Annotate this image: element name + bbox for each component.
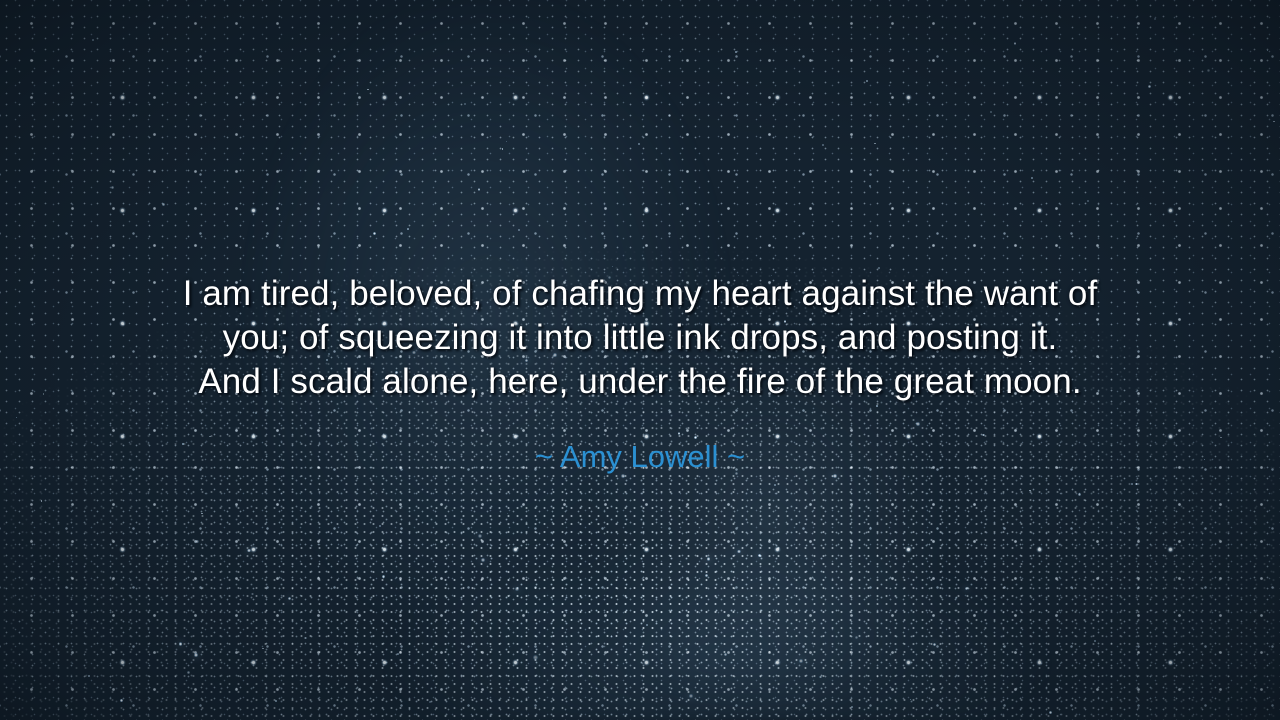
star-icon — [851, 706, 853, 708]
star-icon — [179, 642, 182, 645]
quote-line-2: you; of squeezing it into little ink dro… — [0, 316, 1280, 360]
star-icon — [878, 267, 880, 269]
star-icon — [16, 417, 17, 418]
star-icon — [916, 422, 920, 426]
star-icon — [612, 266, 613, 267]
star-icon — [162, 203, 164, 205]
star-icon — [707, 557, 710, 560]
star-icon — [379, 525, 380, 526]
quote-wallpaper: I am tired, beloved, of chafing my heart… — [0, 0, 1280, 720]
star-icon — [128, 621, 130, 623]
star-icon — [507, 513, 508, 514]
star-icon — [373, 232, 376, 235]
star-icon — [502, 148, 504, 150]
star-icon — [304, 637, 306, 639]
quote-line-3: And I scald alone, here, under the fire … — [0, 360, 1280, 404]
star-icon — [910, 699, 912, 701]
quote-attribution: ~ Amy Lowell ~ — [0, 438, 1280, 476]
star-icon — [195, 540, 198, 543]
star-icon — [611, 635, 613, 637]
star-icon — [855, 636, 858, 639]
star-icon — [481, 558, 485, 562]
star-icon — [518, 229, 520, 231]
star-icon — [866, 80, 869, 83]
star-icon — [515, 587, 519, 591]
star-icon — [506, 141, 508, 143]
star-icon — [478, 534, 482, 538]
star-icon — [367, 89, 369, 91]
star-icon — [41, 500, 43, 502]
star-icon — [382, 575, 385, 578]
star-icon — [187, 671, 190, 674]
star-icon — [638, 143, 640, 145]
star-icon — [120, 699, 123, 702]
star-icon — [247, 549, 250, 552]
star-icon — [505, 480, 506, 481]
star-icon — [874, 143, 875, 144]
star-icon — [758, 554, 761, 557]
star-icon — [1078, 493, 1081, 496]
star-icon — [397, 653, 399, 655]
star-icon — [464, 103, 466, 105]
star-icon — [1273, 121, 1274, 122]
star-icon — [88, 675, 91, 678]
star-icon — [1267, 50, 1268, 51]
star-icon — [407, 228, 409, 230]
star-icon — [1029, 490, 1030, 491]
star-icon — [724, 653, 727, 656]
star-icon — [111, 186, 114, 189]
star-icon — [92, 39, 94, 41]
star-icon — [395, 620, 397, 622]
star-icon — [735, 51, 737, 53]
star-icon — [876, 405, 878, 407]
star-icon — [689, 694, 692, 697]
star-icon — [955, 597, 957, 599]
star-icon — [1207, 69, 1210, 72]
star-icon — [965, 587, 968, 590]
star-icon — [1148, 85, 1151, 88]
quote-line-1: I am tired, beloved, of chafing my heart… — [0, 272, 1280, 316]
star-icon — [705, 574, 708, 577]
star-icon — [1154, 18, 1157, 21]
star-icon — [646, 624, 647, 625]
star-icon — [275, 700, 277, 702]
star-icon — [1131, 483, 1133, 485]
star-icon — [819, 676, 821, 678]
star-icon — [982, 434, 984, 436]
star-icon — [1031, 177, 1032, 178]
star-icon — [1087, 200, 1089, 202]
star-icon — [990, 111, 992, 113]
star-icon — [774, 484, 776, 486]
star-icon — [678, 432, 681, 435]
star-icon — [251, 593, 253, 595]
star-icon — [478, 188, 480, 190]
star-icon — [255, 412, 257, 414]
star-icon — [869, 185, 871, 187]
star-icon — [799, 659, 803, 663]
star-icon — [737, 550, 740, 553]
star-icon — [262, 648, 263, 649]
quote-text-block: I am tired, beloved, of chafing my heart… — [0, 272, 1280, 404]
star-icon — [194, 653, 197, 656]
star-icon — [933, 643, 936, 646]
star-icon — [288, 597, 291, 600]
star-icon — [1049, 711, 1052, 714]
star-icon — [533, 655, 538, 660]
star-icon — [201, 513, 202, 514]
star-icon — [1135, 483, 1138, 486]
star-icon — [1094, 640, 1096, 642]
star-icon — [429, 701, 430, 702]
star-icon — [1014, 42, 1017, 45]
star-icon — [822, 144, 824, 146]
